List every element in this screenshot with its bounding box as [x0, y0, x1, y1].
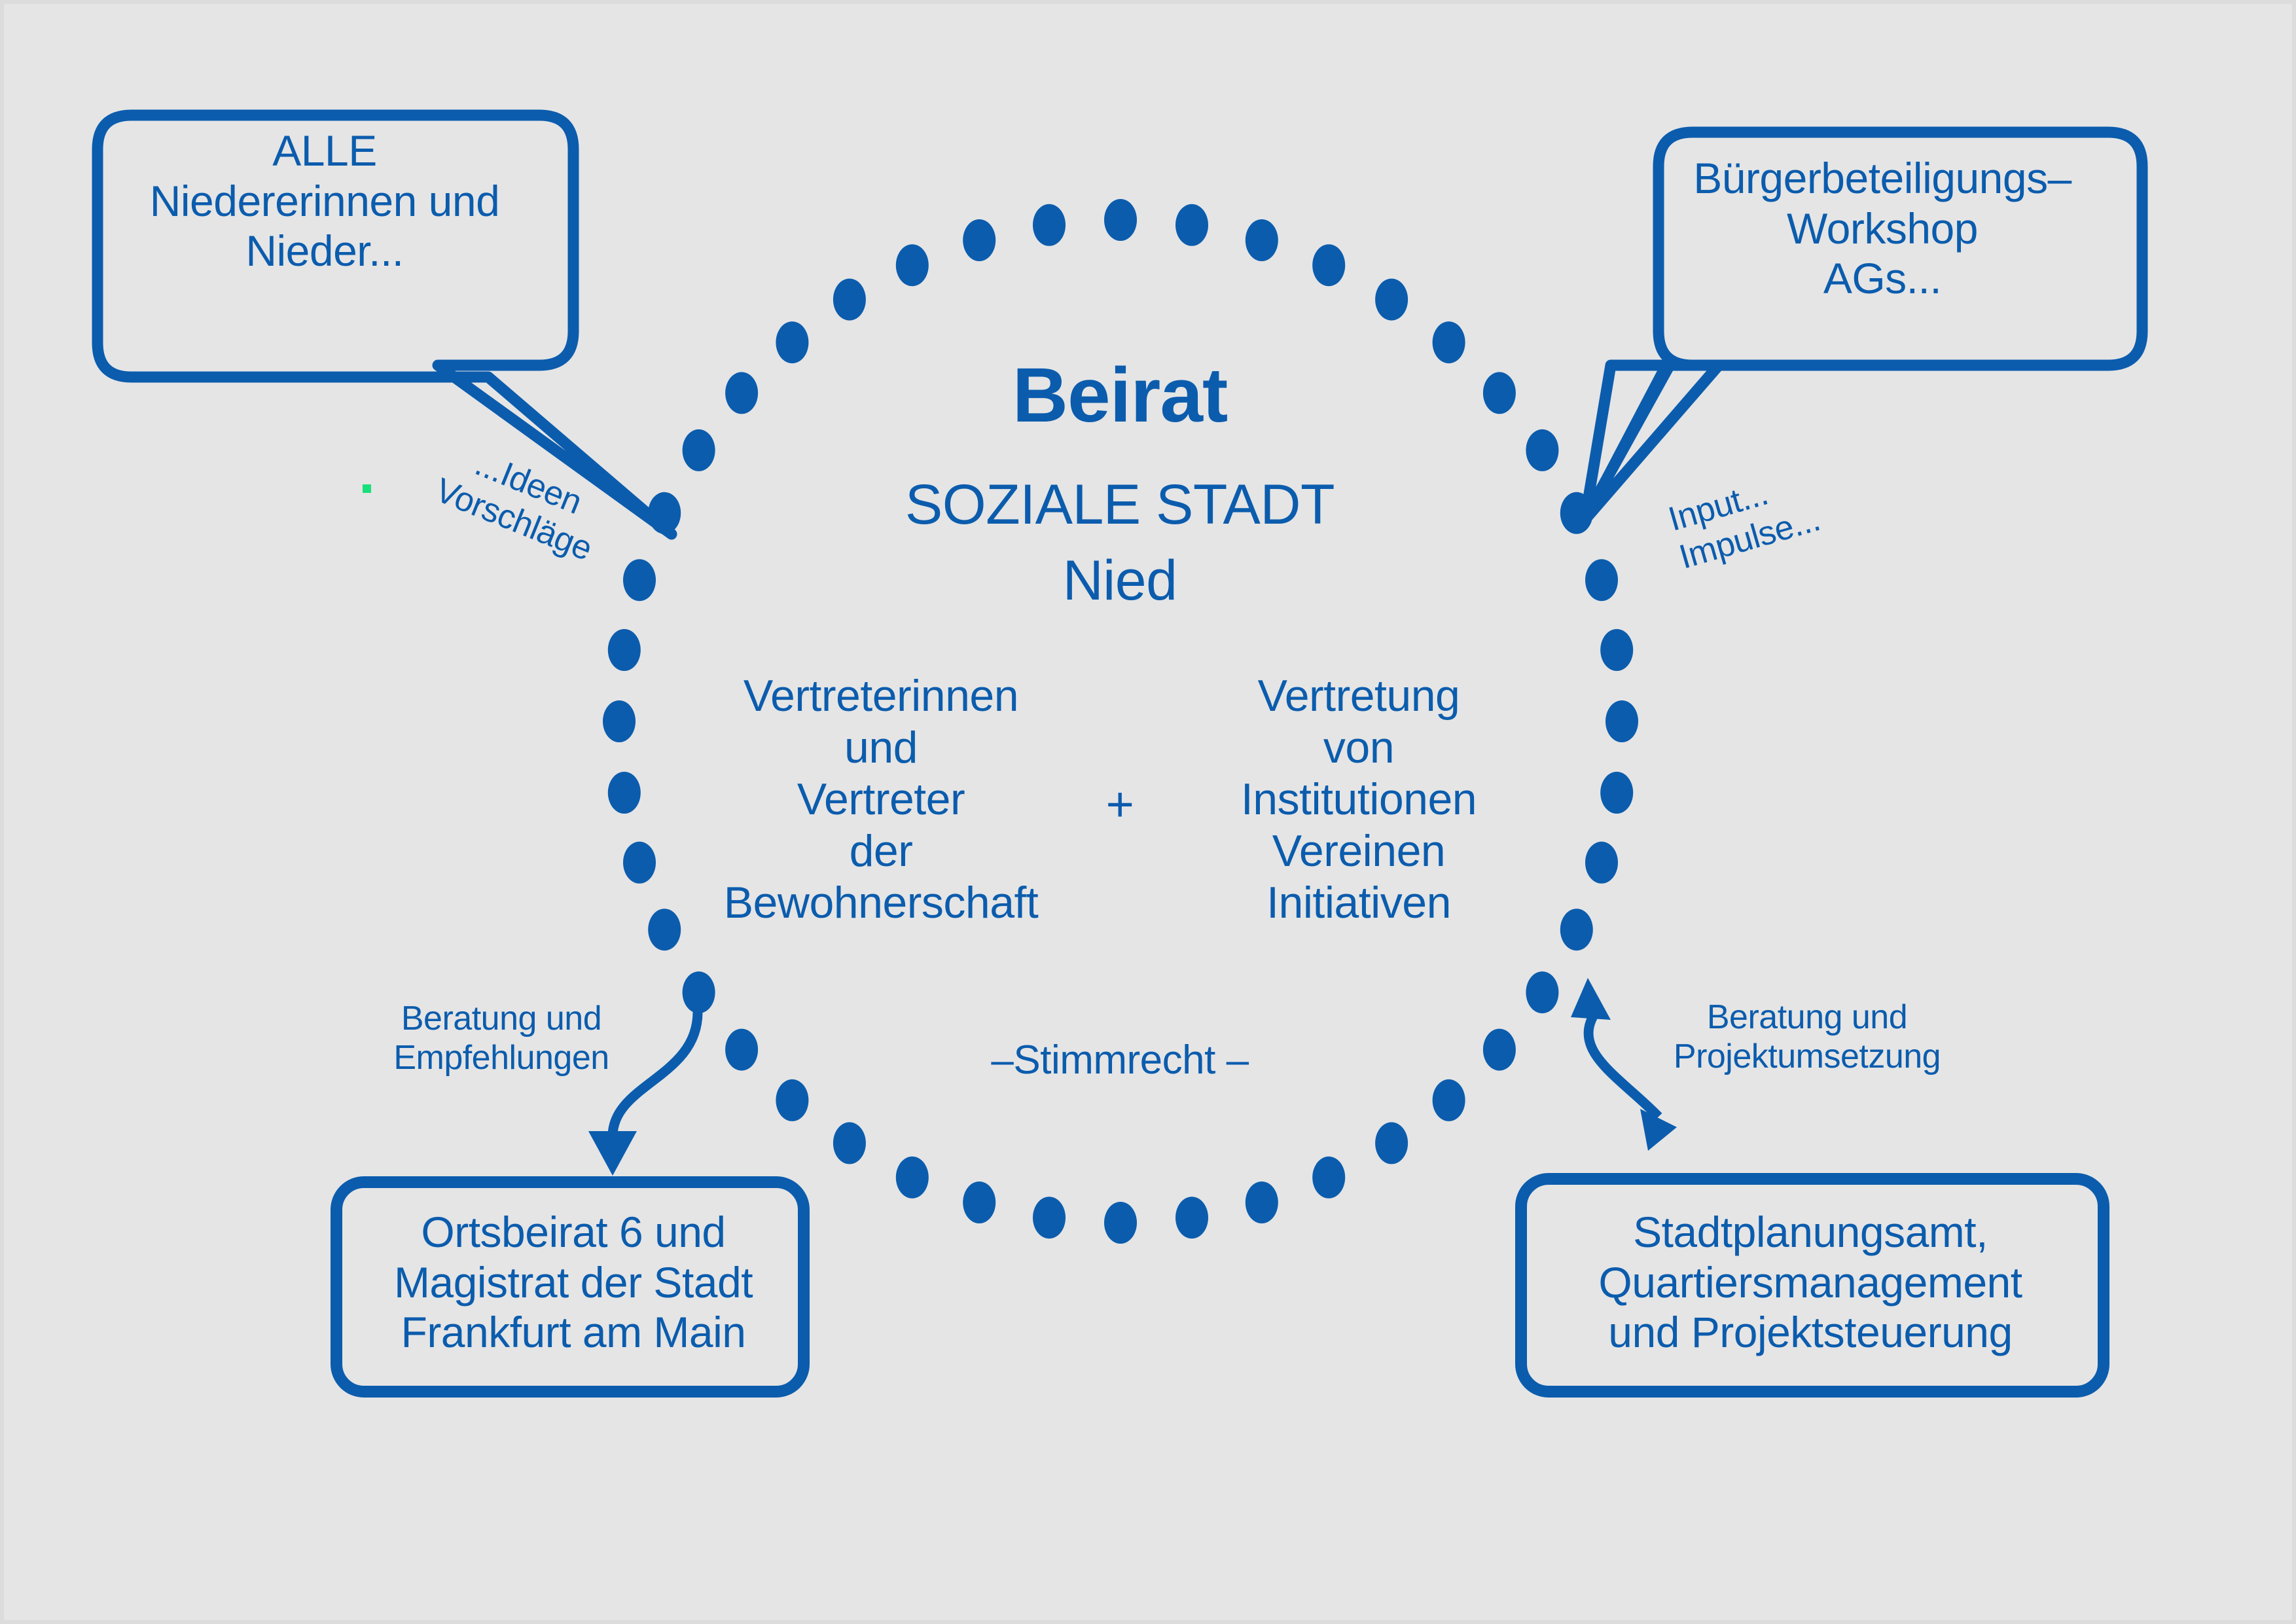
circle-dot — [608, 629, 641, 671]
circle-dot — [1483, 1029, 1516, 1071]
circle-dot — [725, 372, 758, 414]
circle-dot — [648, 909, 681, 950]
circle-dot — [1175, 204, 1208, 246]
circle-dot — [963, 1182, 996, 1223]
circle-dot — [1375, 279, 1408, 321]
circle-dot — [1600, 772, 1633, 814]
circle-dot — [683, 429, 715, 471]
connector-label-beratung-empfehlungen: Beratung und Empfehlungen — [357, 999, 645, 1078]
beirat-members-institutions: Vertretung von Institutionen Vereinen In… — [1185, 670, 1532, 928]
circle-dot — [1033, 1197, 1066, 1238]
circle-dot — [1312, 244, 1345, 286]
circle-dot — [623, 842, 656, 884]
beirat-subtitle-line2: Nied — [858, 549, 1382, 614]
connector-label-beratung-projektumsetzung: Beratung und Projektumsetzung — [1643, 998, 1971, 1077]
circle-dot — [1526, 429, 1558, 471]
voting-rights-note: –Stimmrecht – — [924, 1037, 1316, 1084]
arrowhead-up-right — [1571, 978, 1611, 1020]
circle-dot — [1104, 199, 1137, 241]
circle-dot — [1605, 700, 1638, 742]
ortsbeirat-box-label: Ortsbeirat 6 und Magistrat der Stadt Fra… — [344, 1207, 802, 1358]
circle-dot — [1312, 1157, 1345, 1199]
speech-bubble-left-label: ALLE Niedererinnen und Nieder... — [96, 126, 554, 276]
circle-dot — [1600, 629, 1633, 671]
circle-dot — [1433, 1079, 1465, 1121]
stadtplanungsamt-box-label: Stadtplanungsamt, Quartiersmanagement un… — [1529, 1207, 2092, 1358]
circle-dot — [1483, 372, 1516, 414]
beirat-subtitle-line1: SOZIALE STADT — [858, 473, 1382, 538]
circle-dot — [608, 772, 641, 814]
beirat-members-residents: Vertreterinnen und Vertreter der Bewohne… — [698, 670, 1064, 928]
circle-dot — [896, 1157, 929, 1199]
circle-dot — [1560, 909, 1593, 950]
circle-dot — [1433, 321, 1465, 363]
circle-dot — [1246, 1182, 1278, 1223]
circle-dot — [833, 279, 866, 321]
circle-dot — [1175, 1197, 1208, 1238]
beirat-title: Beirat — [858, 351, 1382, 441]
speech-bubble-right-label: Bürgerbeteiligungs– Workshop AGs... — [1653, 153, 2111, 304]
circle-dot — [725, 1029, 758, 1071]
circle-dot — [1585, 559, 1618, 601]
plus-operator: + — [1077, 776, 1162, 833]
green-marker-dot — [363, 484, 371, 493]
circle-dot — [776, 1079, 808, 1121]
circle-dot — [1104, 1202, 1137, 1244]
circle-dot — [1585, 842, 1618, 884]
diagram-canvas: ALLE Niedererinnen und Nieder... Bürgerb… — [0, 0, 2296, 1624]
circle-dot — [1375, 1122, 1408, 1164]
circle-dot — [683, 971, 715, 1013]
circle-dot — [776, 321, 808, 363]
circle-dot — [896, 244, 929, 286]
arrowhead-down-left — [588, 1131, 637, 1176]
circle-dot — [1526, 971, 1558, 1013]
circle-dot — [603, 700, 636, 742]
circle-dot — [1246, 219, 1278, 261]
circle-dot — [1033, 204, 1066, 246]
circle-dot — [963, 219, 996, 261]
circle-dot — [833, 1122, 866, 1164]
